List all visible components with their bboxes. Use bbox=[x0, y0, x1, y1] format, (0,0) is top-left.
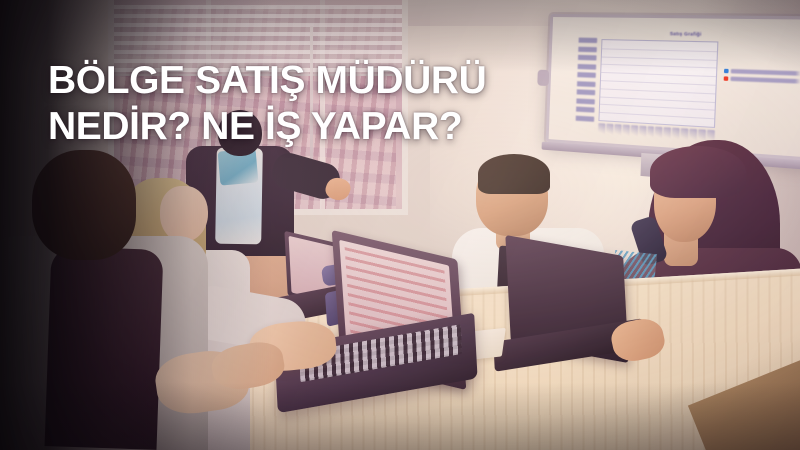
headline-overlay: BÖLGE SATIŞ MÜDÜRÜ NEDİR? NE İŞ YAPAR? bbox=[48, 58, 518, 150]
banner-image: Satış Grafiği bbox=[0, 0, 800, 450]
headline-line-2: NEDİR? NE İŞ YAPAR? bbox=[48, 104, 518, 150]
headline-line-1: BÖLGE SATIŞ MÜDÜRÜ bbox=[48, 58, 518, 104]
